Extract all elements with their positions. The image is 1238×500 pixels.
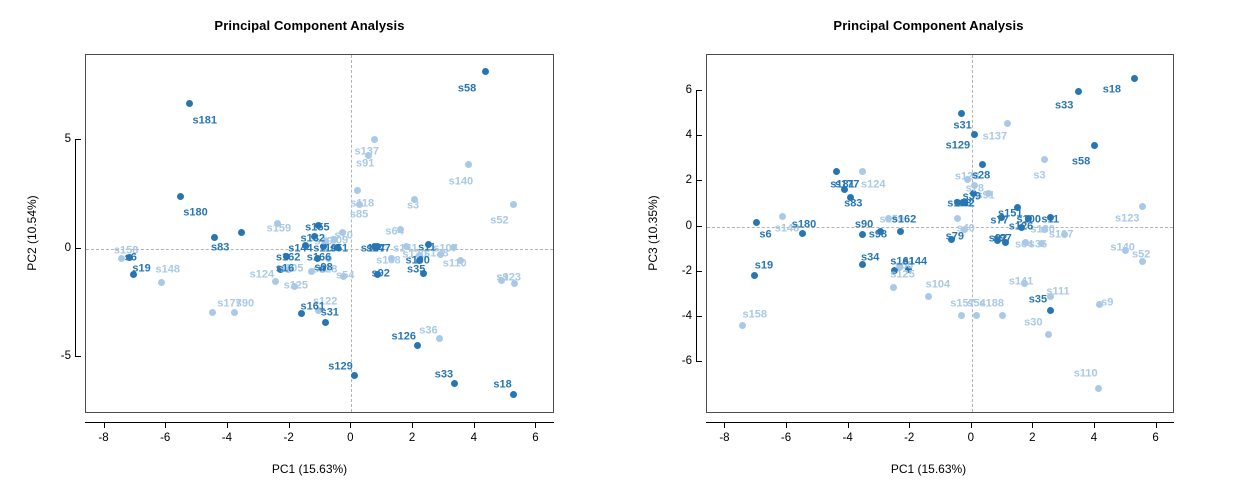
- scatter-point-label: s82: [956, 199, 974, 210]
- scatter-point: [351, 372, 358, 379]
- scatter-point: [958, 312, 965, 319]
- scatter-point-label: s6: [759, 229, 771, 240]
- scatter-point-label: s85: [350, 209, 368, 220]
- scatter-point: [971, 131, 978, 138]
- scatter-point: [753, 219, 760, 226]
- y-axis-tick-label: 0: [39, 242, 71, 254]
- x-axis-tick-label: -2: [904, 432, 914, 444]
- x-axis-tick: [412, 422, 413, 428]
- scatter-point-label: s92: [371, 268, 389, 279]
- scatter-point-label: s181: [193, 116, 217, 127]
- y-axis-tick: [696, 226, 702, 227]
- y-axis-tick-label: -5: [39, 350, 71, 362]
- scatter-point-label: s18: [1103, 84, 1121, 95]
- x-axis-line: [706, 422, 1174, 423]
- panel-left-plot-area: s137s91s140s118s85s3s52s159s64s70s109s99…: [85, 54, 554, 413]
- scatter-point-label: s125: [284, 280, 308, 291]
- x-axis-tick: [786, 422, 787, 428]
- scatter-point: [1091, 142, 1098, 149]
- x-axis-tick: [1094, 422, 1095, 428]
- scatter-point: [999, 312, 1006, 319]
- scatter-point-label: s137: [355, 146, 379, 157]
- y-axis-tick-label: 0: [660, 220, 692, 232]
- scatter-point-label: s177: [835, 179, 859, 190]
- x-axis-tick-label: 2: [409, 432, 415, 444]
- scatter-point-label: s52: [490, 216, 508, 227]
- scatter-point-label: s137: [983, 132, 1007, 143]
- scatter-point-label: s83: [211, 242, 229, 253]
- panel-left-xaxis-title: PC1 (15.63%): [0, 462, 619, 476]
- x-axis-tick-label: 2: [1029, 432, 1035, 444]
- scatter-point: [354, 187, 361, 194]
- panel-right-title: Principal Component Analysis: [619, 18, 1238, 33]
- y-axis-tick-label: 5: [39, 133, 71, 145]
- panel-left-title: Principal Component Analysis: [0, 18, 619, 33]
- scatter-point: [1131, 75, 1138, 82]
- y-axis-tick: [696, 316, 702, 317]
- scatter-point-label: s19: [755, 261, 773, 272]
- scatter-point-label: s35: [1029, 294, 1047, 305]
- scatter-point-label: s98: [314, 263, 332, 274]
- scatter-point-label: s16: [276, 264, 294, 275]
- scatter-point-label: s129: [328, 362, 352, 373]
- x-axis-tick: [227, 422, 228, 428]
- x-axis-tick-label: -8: [98, 432, 108, 444]
- scatter-point-label: s36: [1029, 239, 1047, 250]
- x-axis-tick: [848, 422, 849, 428]
- scatter-point-label: s123: [1115, 213, 1139, 224]
- x-axis-tick: [909, 422, 910, 428]
- scatter-point-label: s83: [844, 199, 862, 210]
- scatter-point-label: s162: [892, 214, 916, 225]
- scatter-point: [1047, 307, 1054, 314]
- scatter-point-label: s52: [1132, 249, 1150, 260]
- scatter-point-label: s110: [443, 258, 467, 269]
- pca-figure: Principal Component Analysis s137s91s140…: [0, 0, 1238, 500]
- scatter-point: [414, 342, 421, 349]
- scatter-point-label: s34: [861, 253, 879, 264]
- pca-panel-right: Principal Component Analysis s137s3s124s…: [619, 0, 1238, 500]
- scatter-point: [177, 193, 184, 200]
- scatter-point-label: s110: [1074, 369, 1098, 380]
- scatter-point: [859, 168, 866, 175]
- scatter-point-label: s33: [435, 369, 453, 380]
- x-axis-tick: [971, 422, 972, 428]
- scatter-point-label: s141: [1009, 276, 1033, 287]
- scatter-point: [482, 68, 489, 75]
- x-axis-tick-label: 0: [347, 432, 353, 444]
- scatter-point: [186, 100, 193, 107]
- y-axis-tick: [696, 180, 702, 181]
- scatter-point-label: s147: [366, 243, 390, 254]
- pca-panel-left: Principal Component Analysis s137s91s140…: [0, 0, 619, 500]
- x-axis-tick-label: 0: [968, 432, 974, 444]
- scatter-point: [231, 309, 238, 316]
- scatter-point: [751, 272, 758, 279]
- scatter-point-label: s129: [946, 141, 970, 152]
- scatter-point: [1041, 156, 1048, 163]
- scatter-point-label: s90: [236, 299, 254, 310]
- scatter-point-label: s9: [496, 273, 508, 284]
- x-axis-tick: [724, 422, 725, 428]
- scatter-point-label: s126: [392, 331, 416, 342]
- scatter-point: [925, 293, 932, 300]
- scatter-point-label: s3: [407, 201, 419, 212]
- scatter-point-label: s9: [1101, 298, 1113, 309]
- scatter-point-label: s58: [1072, 157, 1090, 168]
- scatter-point: [1095, 385, 1102, 392]
- y-axis-tick: [696, 135, 702, 136]
- scatter-point-label: s18: [493, 379, 511, 390]
- scatter-point-label: s31: [953, 121, 971, 132]
- x-axis-tick: [474, 422, 475, 428]
- x-axis-tick-label: 4: [471, 432, 477, 444]
- scatter-point: [979, 161, 986, 168]
- scatter-point-label: s28: [972, 170, 990, 181]
- x-axis-tick-label: -6: [781, 432, 791, 444]
- scatter-point-label: s180: [792, 220, 816, 231]
- scatter-point-label: s91: [356, 158, 374, 169]
- scatter-point-label: s77: [990, 215, 1008, 226]
- panel-right-xaxis-title: PC1 (15.63%): [619, 462, 1238, 476]
- x-axis-tick: [1032, 422, 1033, 428]
- panel-right-yaxis-title: PC3 (10.35%): [646, 153, 660, 313]
- x-axis-tick-label: -4: [222, 432, 232, 444]
- scatter-point: [510, 391, 517, 398]
- y-axis-tick-label: -6: [660, 355, 692, 367]
- scatter-point-label: s126: [1009, 221, 1033, 232]
- scatter-point-label: s104: [926, 280, 950, 291]
- scatter-point: [890, 284, 897, 291]
- scatter-point: [954, 215, 961, 222]
- panel-right-plot-area: s137s3s124s128s91s78s123s159s148s130s107…: [706, 54, 1174, 413]
- scatter-point: [451, 380, 458, 387]
- scatter-point-label: s33: [1055, 100, 1073, 111]
- scatter-point-label: s36: [419, 326, 437, 337]
- scatter-point-label: s11: [418, 242, 436, 253]
- y-axis-tick-label: -2: [660, 265, 692, 277]
- scatter-point: [1075, 88, 1082, 95]
- scatter-point-label: s31: [321, 307, 339, 318]
- scatter-point-label: s124: [861, 179, 885, 190]
- scatter-point-label: s58: [458, 83, 476, 94]
- scatter-point: [958, 110, 965, 117]
- scatter-point: [833, 168, 840, 175]
- scatter-point-label: s188: [376, 255, 400, 266]
- scatter-point-label: s124: [250, 269, 274, 280]
- x-axis-tick-label: -8: [719, 432, 729, 444]
- panel-left-yaxis-title: PC2 (10.54%): [25, 153, 39, 313]
- scatter-point: [897, 228, 904, 235]
- scatter-point-label: s107: [1049, 229, 1073, 240]
- scatter-point: [1045, 331, 1052, 338]
- scatter-point-label: s19: [132, 264, 150, 275]
- scatter-point-label: s158: [742, 309, 766, 320]
- scatter-point-label: s35: [407, 265, 425, 276]
- scatter-point: [238, 229, 245, 236]
- x-axis-tick-label: 6: [532, 432, 538, 444]
- scatter-point-label: s159: [267, 224, 291, 235]
- scatter-point-label: s111: [1046, 287, 1069, 298]
- scatter-point-label: s148: [156, 265, 180, 276]
- scatter-point-label: s188: [980, 299, 1004, 310]
- scatter-point-label: s92: [989, 234, 1007, 245]
- scatter-point: [209, 309, 216, 316]
- scatter-point-label: s98: [869, 229, 887, 240]
- y-axis-tick-label: -4: [660, 310, 692, 322]
- scatter-point-label: s54: [336, 270, 354, 281]
- x-axis-tick-label: -4: [843, 432, 853, 444]
- y-axis-tick: [696, 90, 702, 91]
- scatter-point: [779, 213, 786, 220]
- scatter-point: [1004, 120, 1011, 127]
- x-axis-tick-label: -6: [160, 432, 170, 444]
- y-axis-tick: [696, 271, 702, 272]
- scatter-point: [859, 231, 866, 238]
- x-axis-tick: [104, 422, 105, 428]
- scatter-point-label: s11: [1041, 214, 1059, 225]
- scatter-point: [371, 136, 378, 143]
- y-axis-tick: [75, 248, 81, 249]
- scatter-point: [1139, 203, 1146, 210]
- scatter-point-label: s30: [1024, 317, 1042, 328]
- y-axis-tick-label: 4: [660, 129, 692, 141]
- x-axis-tick-label: 6: [1152, 432, 1158, 444]
- x-axis-tick: [1156, 422, 1157, 428]
- x-axis-line: [85, 422, 554, 423]
- y-axis-tick: [75, 356, 81, 357]
- scatter-point-label: s64: [385, 227, 403, 238]
- scatter-point: [510, 201, 517, 208]
- x-axis-tick: [289, 422, 290, 428]
- scatter-point: [973, 312, 980, 319]
- x-axis-tick: [350, 422, 351, 428]
- scatter-point-label: s51: [330, 243, 348, 254]
- scatter-point-label: s140: [449, 177, 473, 188]
- scatter-point: [322, 319, 329, 326]
- scatter-point: [158, 279, 165, 286]
- y-axis-tick: [696, 361, 702, 362]
- y-axis-tick-label: 2: [660, 174, 692, 186]
- x-axis-tick: [165, 422, 166, 428]
- scatter-point-label: s3: [1033, 170, 1045, 181]
- scatter-point-label: s144: [903, 256, 927, 267]
- scatter-point-label: s125: [890, 270, 914, 281]
- scatter-point-label: s180: [183, 207, 207, 218]
- scatter-point: [465, 161, 472, 168]
- y-axis-tick: [75, 139, 81, 140]
- y-axis-tick-label: 6: [660, 84, 692, 96]
- x-axis-tick-label: 4: [1091, 432, 1097, 444]
- x-axis-tick-label: -2: [284, 432, 294, 444]
- x-axis-tick: [535, 422, 536, 428]
- scatter-point-label: s79: [946, 231, 964, 242]
- scatter-point: [739, 322, 746, 329]
